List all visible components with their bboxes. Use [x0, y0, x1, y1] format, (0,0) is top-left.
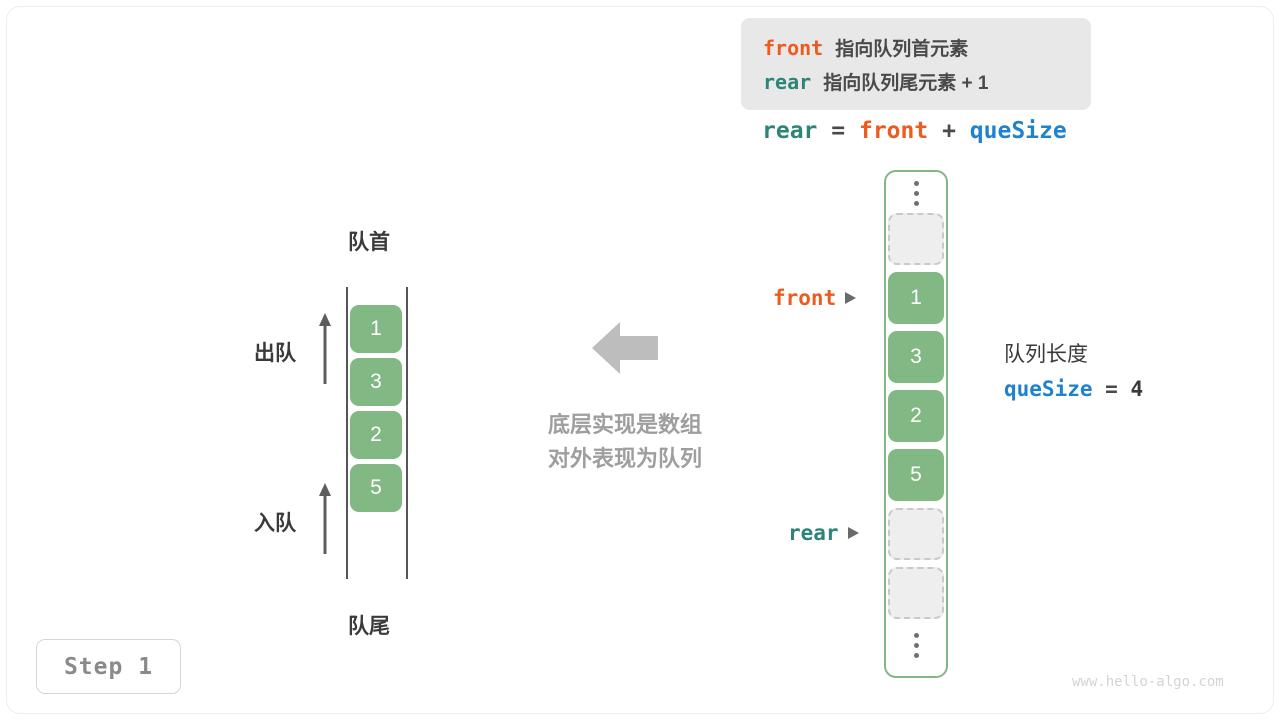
legend-text-front: 指向队列首元素: [835, 39, 968, 60]
step-badge: Step 1: [36, 639, 181, 694]
legend-keyword-rear: rear: [763, 70, 811, 94]
rear-pointer-arrow-icon: [848, 527, 859, 539]
quesize-value: 4: [1130, 377, 1143, 401]
legend-line-rear: rear 指向队列尾元素 + 1: [763, 66, 1069, 100]
array-slot-filled: 3: [888, 331, 944, 383]
arrow-left-icon: [592, 318, 658, 378]
queue-rail-left: [346, 287, 348, 579]
formula-equals: =: [831, 118, 845, 144]
array-slot-filled: 1: [888, 272, 944, 324]
quesize-variable: queSize: [1004, 377, 1093, 401]
rear-formula: rear = front + queSize: [762, 118, 1067, 144]
queue-cell: 1: [350, 305, 402, 353]
queue-size-expression: queSize = 4: [1004, 372, 1143, 406]
center-caption-line1: 底层实现是数组: [525, 408, 725, 442]
array-slot-empty: [888, 213, 944, 265]
legend-line-front: front 指向队列首元素: [763, 32, 1069, 66]
queue-size-info: 队列长度 queSize = 4: [1004, 338, 1143, 406]
formula-front: front: [859, 118, 928, 144]
array-bottom-ellipsis-icon: [911, 633, 921, 658]
diagram-canvas: front 指向队列首元素 rear 指向队列尾元素 + 1 rear = fr…: [0, 0, 1280, 720]
center-caption-line2: 对外表现为队列: [525, 442, 725, 476]
front-pointer-label: front: [773, 286, 836, 310]
rear-pointer: rear: [788, 521, 859, 545]
queue-cell: 2: [350, 411, 402, 459]
front-pointer: front: [773, 286, 856, 310]
dequeue-label: 出队: [254, 337, 296, 367]
legend-keyword-front: front: [763, 36, 823, 60]
queue-rail-right: [406, 287, 408, 579]
dequeue-arrow-icon: [317, 312, 333, 384]
formula-quesize: queSize: [970, 118, 1067, 144]
queue-cell: 3: [350, 358, 402, 406]
array-slot-empty: [888, 567, 944, 619]
queue-tail-label: 队尾: [348, 610, 390, 640]
queue-size-title: 队列长度: [1004, 338, 1143, 372]
legend-text-rear: 指向队列尾元素 + 1: [823, 73, 988, 94]
quesize-equals: =: [1105, 377, 1118, 401]
array-slot-filled: 2: [888, 390, 944, 442]
array-slot-filled: 5: [888, 449, 944, 501]
formula-rear: rear: [762, 118, 817, 144]
array-top-ellipsis-icon: [911, 181, 921, 206]
formula-plus: +: [942, 118, 956, 144]
enqueue-arrow-icon: [317, 482, 333, 554]
queue-cell: 5: [350, 464, 402, 512]
front-pointer-arrow-icon: [845, 292, 856, 304]
watermark: www.hello-algo.com: [1072, 674, 1224, 690]
pointer-legend-box: front 指向队列首元素 rear 指向队列尾元素 + 1: [741, 18, 1091, 110]
enqueue-label: 入队: [254, 507, 296, 537]
array-slot-empty: [888, 508, 944, 560]
queue-head-label: 队首: [348, 226, 390, 256]
rear-pointer-label: rear: [788, 521, 839, 545]
center-caption: 底层实现是数组 对外表现为队列: [525, 408, 725, 476]
